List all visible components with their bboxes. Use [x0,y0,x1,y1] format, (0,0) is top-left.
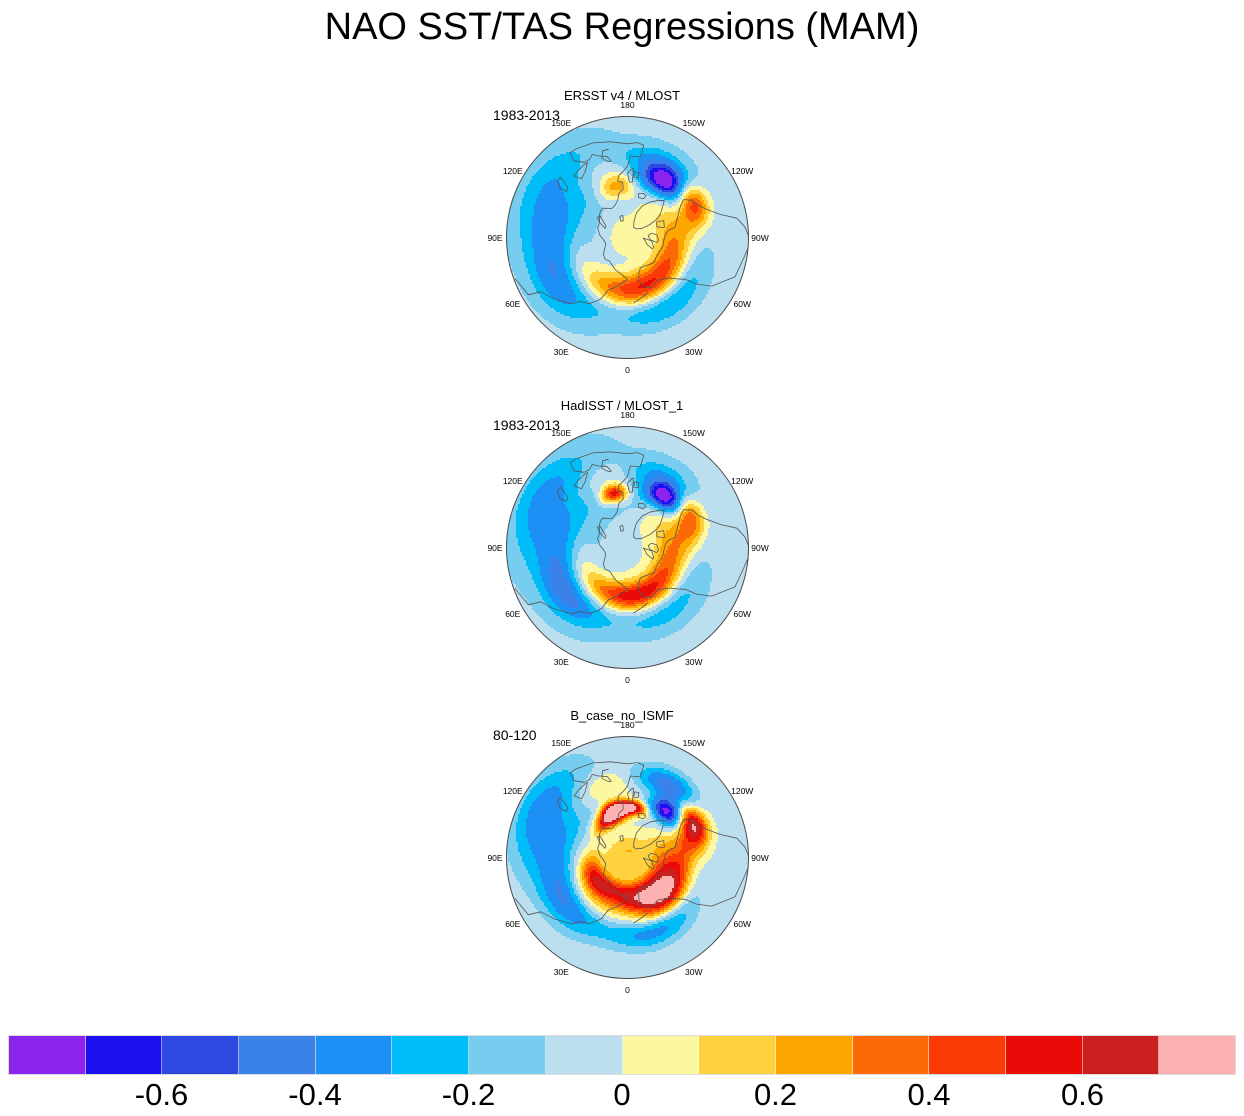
longitude-label: 60E [505,609,520,619]
longitude-label: 180 [620,100,634,110]
colorbar-swatch [392,1036,469,1074]
longitude-label: 60W [733,919,750,929]
colorbar-swatch [623,1036,700,1074]
colorbar-tick-label: -0.4 [288,1076,341,1114]
longitude-label: 90W [751,233,768,243]
colorbar [8,1035,1236,1075]
longitude-label: 120E [503,786,523,796]
map-panel: B_case_no_ISMF80-120180150W120W90W60W30W… [0,708,1244,1018]
longitude-label: 60E [505,299,520,309]
colorbar-swatch [776,1036,853,1074]
longitude-label: 150E [551,738,571,748]
polar-map: 180150W120W90W60W30W030E60E90E120E150E [506,116,749,361]
map-field [506,426,749,669]
page-title: NAO SST/TAS Regressions (MAM) [0,4,1244,50]
longitude-label: 150W [683,118,705,128]
colorbar-swatch [469,1036,546,1074]
longitude-label: 180 [620,720,634,730]
longitude-label: 30W [685,967,702,977]
colorbar-swatch [86,1036,163,1074]
colorbar-tick-label: 0.6 [1061,1076,1104,1114]
colorbar-tick-labels: -0.6-0.4-0.200.20.40.6 [0,1076,1244,1116]
map-disc [506,116,749,359]
colorbar-swatch [239,1036,316,1074]
longitude-label: 30W [685,657,702,667]
colorbar-swatch [316,1036,393,1074]
longitude-label: 180 [620,410,634,420]
colorbar-swatch [9,1036,86,1074]
longitude-label: 60W [733,609,750,619]
longitude-label: 30W [685,347,702,357]
polar-map: 180150W120W90W60W30W030E60E90E120E150E [506,736,749,981]
longitude-label: 120E [503,166,523,176]
colorbar-tick-label: -0.2 [442,1076,495,1114]
colorbar-tick-label: 0 [613,1076,630,1114]
map-disc [506,426,749,669]
longitude-label: 90W [751,543,768,553]
longitude-label: 30E [554,347,569,357]
longitude-label: 30E [554,967,569,977]
colorbar-swatch [699,1036,776,1074]
colorbar-swatch [1083,1036,1160,1074]
longitude-label: 30E [554,657,569,667]
longitude-label: 120E [503,476,523,486]
colorbar-tick-label: 0.4 [907,1076,950,1114]
colorbar-swatch [1159,1036,1235,1074]
map-panel: ERSST v4 / MLOST1983-2013180150W120W90W6… [0,88,1244,398]
longitude-label: 90W [751,853,768,863]
longitude-label: 90E [487,543,502,553]
colorbar-swatch [162,1036,239,1074]
colorbar-swatch [1006,1036,1083,1074]
longitude-label: 150E [551,428,571,438]
longitude-label: 60E [505,919,520,929]
longitude-label: 150E [551,118,571,128]
longitude-label: 150W [683,428,705,438]
map-disc [506,736,749,979]
longitude-label: 60W [733,299,750,309]
polar-map: 180150W120W90W60W30W030E60E90E120E150E [506,426,749,671]
map-field [506,116,749,359]
longitude-label: 90E [487,853,502,863]
longitude-label: 0 [625,675,630,685]
longitude-label: 120W [731,476,753,486]
longitude-label: 150W [683,738,705,748]
colorbar-tick-label: 0.2 [754,1076,797,1114]
longitude-label: 120W [731,786,753,796]
map-panel: HadISST / MLOST_11983-2013180150W120W90W… [0,398,1244,708]
map-field [506,736,749,979]
colorbar-swatch [546,1036,623,1074]
longitude-label: 0 [625,365,630,375]
colorbar-swatch [853,1036,930,1074]
longitude-label: 120W [731,166,753,176]
colorbar-tick-label: -0.6 [135,1076,188,1114]
colorbar-swatch [929,1036,1006,1074]
longitude-label: 0 [625,985,630,995]
longitude-label: 90E [487,233,502,243]
